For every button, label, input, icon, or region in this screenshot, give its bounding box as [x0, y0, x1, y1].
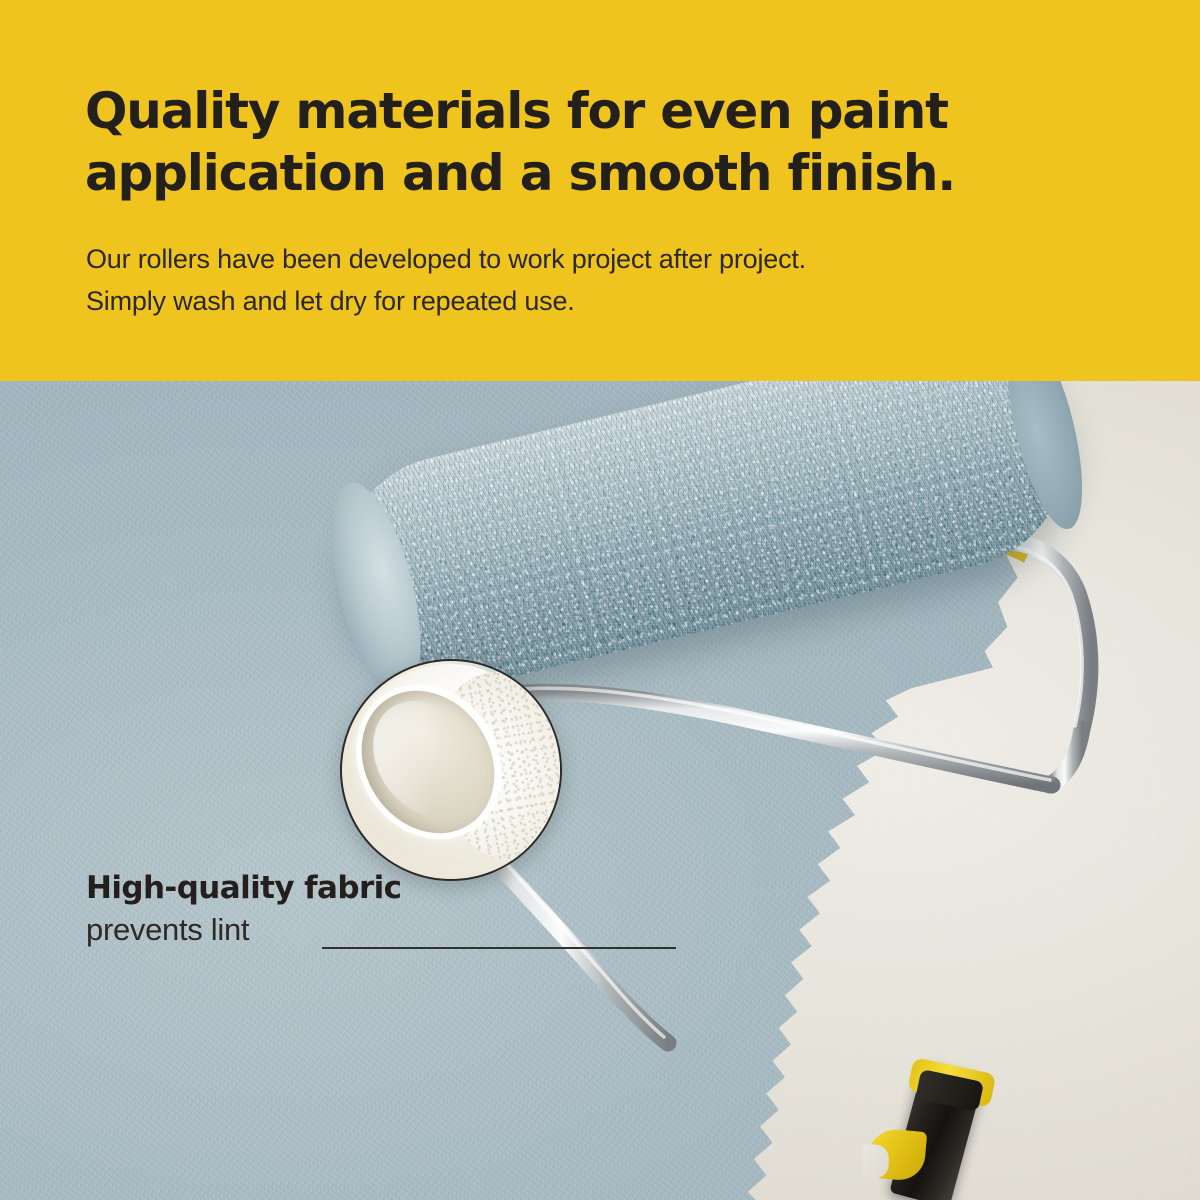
header-banner: Quality materials for even paint applica…	[0, 0, 1200, 381]
product-photo: High-quality fabric prevents lint Polypr…	[0, 381, 1200, 1200]
callout-title: High-quality fabric	[86, 868, 706, 908]
callout-high-quality-fabric: High-quality fabric prevents lint	[86, 868, 706, 952]
page-title: Quality materials for even paint applica…	[85, 80, 1085, 204]
product-infographic: Quality materials for even paint applica…	[0, 0, 1200, 1200]
handle-wing-notch	[862, 1144, 889, 1178]
magnifier-callout-circle	[340, 659, 562, 881]
page-subtitle: Our rollers have been developed to work …	[86, 238, 1126, 322]
callout-subtitle: prevents lint	[86, 908, 706, 952]
